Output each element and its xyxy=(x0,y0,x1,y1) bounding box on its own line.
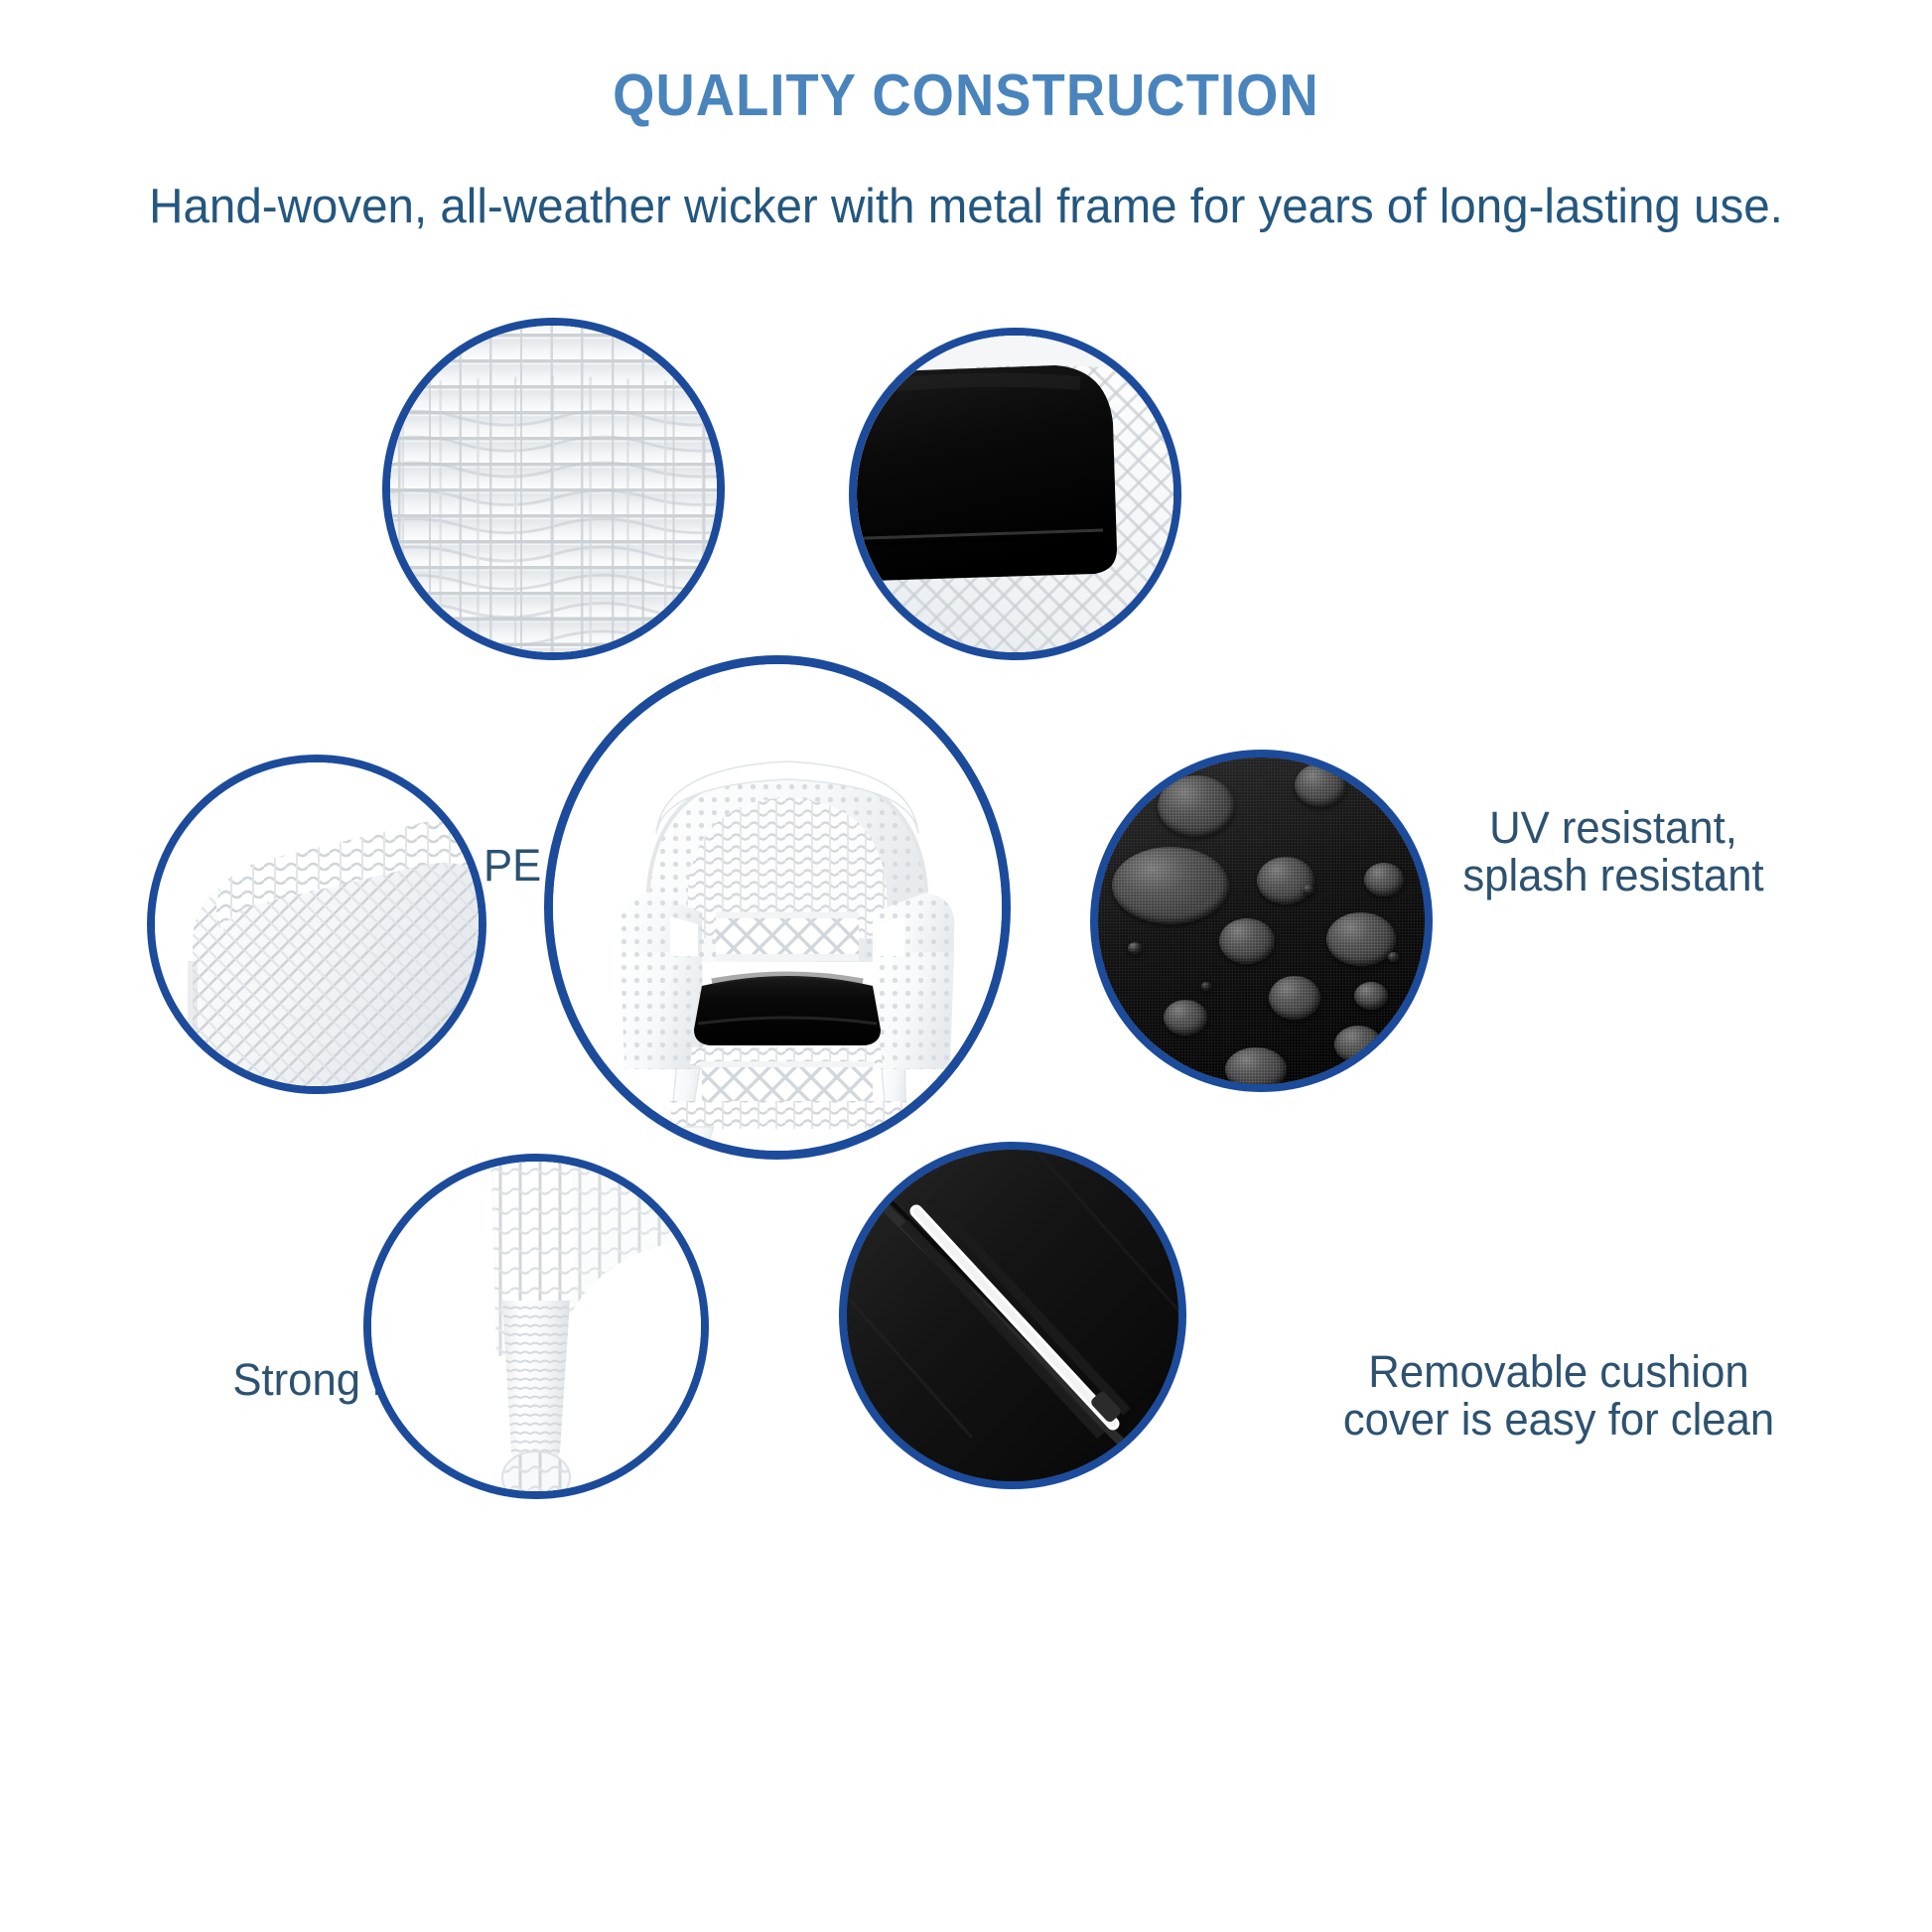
water-droplet xyxy=(1334,1026,1382,1063)
black-cushion-cover-zipper-closeup-image xyxy=(847,1150,1178,1481)
white-wicker-armchair-with-black-cushion-image xyxy=(553,664,1002,1151)
water-droplet xyxy=(1128,942,1142,954)
water-droplet xyxy=(1269,976,1320,1020)
water-droplet xyxy=(1354,982,1388,1010)
page-subtitle: Hand-woven, all-weather wicker with meta… xyxy=(29,179,1903,234)
feature-circle-chair-leg xyxy=(363,1154,709,1499)
water-droplet xyxy=(1164,1000,1207,1035)
water-droplet xyxy=(1201,982,1211,991)
feature-circle-uv-splash-resistant xyxy=(849,328,1181,660)
water-droplet xyxy=(1364,863,1404,897)
water-droplet xyxy=(1295,763,1346,807)
infographic-page: QUALITY CONSTRUCTION Hand-woven, all-wea… xyxy=(0,0,1932,1932)
feature-circle-zipper-cover xyxy=(839,1142,1186,1489)
water-droplet xyxy=(1388,952,1399,962)
water-droplets-beading-on-black-fabric-image xyxy=(1098,758,1425,1084)
feature-circle-product-hero xyxy=(544,655,1011,1160)
water-droplet xyxy=(1326,912,1396,966)
water-droplet xyxy=(1219,918,1275,964)
feature-circle-removable-cushion-cover xyxy=(1090,750,1433,1092)
page-title: QUALITY CONSTRUCTION xyxy=(77,62,1855,129)
feature-circle-hand-woven-pe-rattan xyxy=(382,318,725,660)
water-droplet xyxy=(1225,1047,1287,1091)
water-droplet xyxy=(1257,857,1314,904)
black-cushion-on-white-wicker-chair-image xyxy=(857,336,1173,652)
feature-circle-strong-metal-structure xyxy=(147,755,486,1094)
feature-label-uv-splash-resistant: UV resistant, splash resistant xyxy=(1411,804,1815,898)
white-wicker-chair-leg-closeup-image xyxy=(371,1162,701,1491)
feature-label-removable-cushion-cover: Removable cushion cover is easy for clea… xyxy=(1327,1348,1790,1443)
white-wicker-weave-closeup-image xyxy=(382,318,725,660)
white-wicker-chair-arm-closeup-image xyxy=(155,762,479,1086)
water-droplet xyxy=(1303,885,1314,895)
water-droplet xyxy=(1112,847,1229,924)
water-droplet xyxy=(1158,775,1235,837)
